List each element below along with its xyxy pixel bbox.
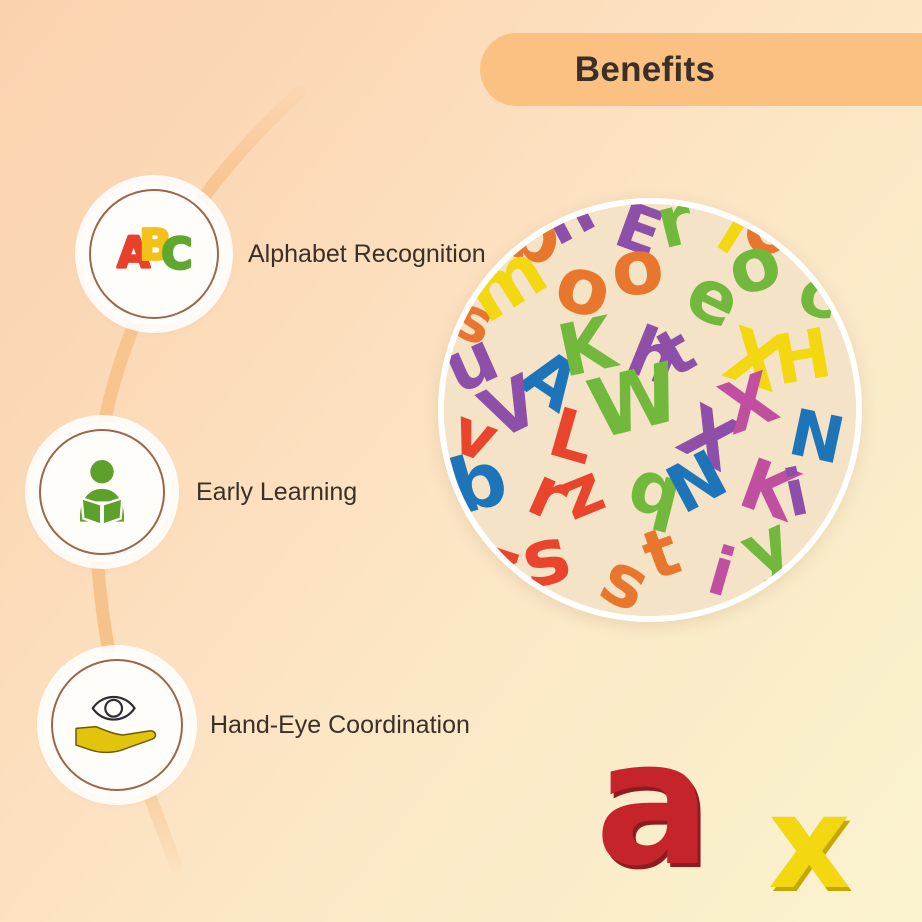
wooden-letters-photo: E b n E r T c l s m o o e o c u A K bbox=[444, 204, 856, 616]
loose-letter-x: x bbox=[768, 780, 851, 908]
product-photo-circle: E b n E r T c l s m o o e o c u A K bbox=[438, 198, 862, 622]
benefit-item-early-learning[interactable]: Early Learning bbox=[32, 422, 357, 562]
promo-graphic: Benefits A B C Alphabet Recognition Earl… bbox=[0, 0, 922, 922]
benefit-item-alphabet-recognition[interactable]: A B C Alphabet Recognition bbox=[82, 182, 486, 326]
benefit-label: Alphabet Recognition bbox=[248, 240, 486, 269]
banner-title: Benefits bbox=[575, 50, 716, 90]
loose-letter-a: a bbox=[595, 718, 711, 890]
svg-text:C: C bbox=[161, 230, 192, 279]
benefit-item-hand-eye-coordination[interactable]: Hand-Eye Coordination bbox=[44, 652, 470, 798]
abc-letters-icon: A B C bbox=[108, 208, 200, 300]
benefit-badge: A B C bbox=[82, 182, 226, 326]
benefit-label: Early Learning bbox=[196, 478, 357, 507]
person-reading-book-icon bbox=[63, 453, 141, 531]
benefit-label: Hand-Eye Coordination bbox=[210, 711, 470, 740]
benefit-badge bbox=[44, 652, 190, 798]
benefits-banner: Benefits bbox=[480, 33, 922, 106]
benefit-badge bbox=[32, 422, 172, 562]
eye-over-hand-icon bbox=[71, 683, 163, 767]
svg-text:l: l bbox=[798, 204, 835, 270]
